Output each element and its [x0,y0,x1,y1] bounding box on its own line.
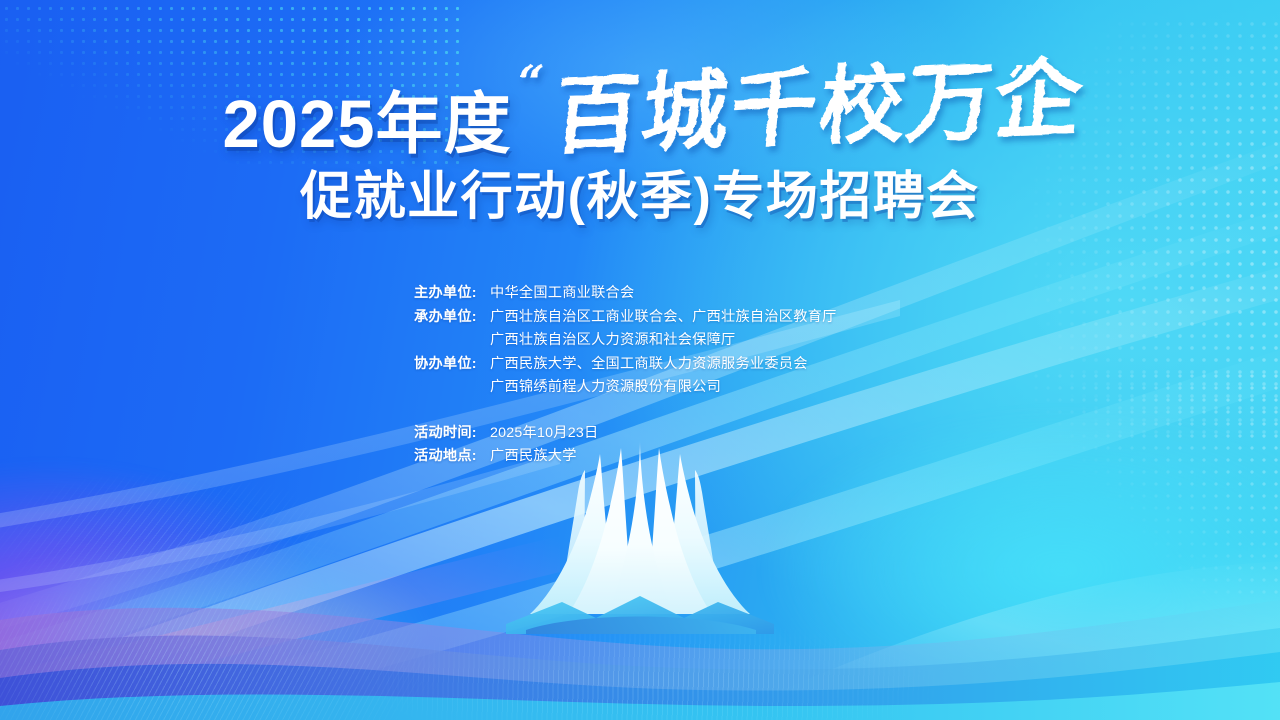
headline-block: 2025年度 “ [0,58,1280,226]
info-label: 承办单位: [414,306,490,330]
info-label: 协办单位: [414,353,490,377]
poster-canvas: 2025年度 “ [0,0,1280,720]
title-brush-phrase: “ 百城千校万企 ” [518,58,1058,162]
info-spacer [414,400,934,422]
info-value-line: 广西锦绣前程人力资源股份有限公司 [490,376,934,400]
info-label: 活动时间: [414,422,490,446]
info-label: 活动地点: [414,445,490,469]
info-row-support-organizer: 协办单位: 广西民族大学、全国工商联人力资源服务业委员会 广西锦绣前程人力资源股… [414,353,934,400]
info-block: 主办单位: 中华全国工商业联合会 承办单位: 广西壮族自治区工商业联合会、广西壮… [414,282,934,469]
info-row-organizer: 主办单位: 中华全国工商业联合会 [414,282,934,306]
info-value-line: 中华全国工商业联合会 [490,282,934,306]
main-title-row: 2025年度 “ [0,58,1280,162]
info-row-co-organizer: 承办单位: 广西壮族自治区工商业联合会、广西壮族自治区教育厅 广西壮族自治区人力… [414,306,934,353]
info-row-event-venue: 活动地点: 广西民族大学 [414,445,934,469]
info-label: 主办单位: [414,282,490,306]
info-values: 广西壮族自治区工商业联合会、广西壮族自治区教育厅 广西壮族自治区人力资源和社会保… [490,306,934,353]
info-values: 中华全国工商业联合会 [490,282,934,306]
info-value-line: 广西壮族自治区人力资源和社会保障厅 [490,329,934,353]
title-year-prefix: 2025年度 [222,91,511,158]
info-values: 2025年10月23日 [490,422,934,446]
info-value-line: 广西民族大学、全国工商联人力资源服务业委员会 [490,353,934,377]
info-value-line: 广西民族大学 [490,445,934,469]
info-value-line: 广西壮族自治区工商业联合会、广西壮族自治区教育厅 [490,306,934,330]
info-values: 广西民族大学、全国工商联人力资源服务业委员会 广西锦绣前程人力资源股份有限公司 [490,353,934,400]
title-quote-open: “ [513,55,546,109]
subtitle: 促就业行动(秋季)专场招聘会 [0,168,1280,226]
info-values: 广西民族大学 [490,445,934,469]
info-row-event-date: 活动时间: 2025年10月23日 [414,422,934,446]
info-value-line: 2025年10月23日 [490,422,934,446]
